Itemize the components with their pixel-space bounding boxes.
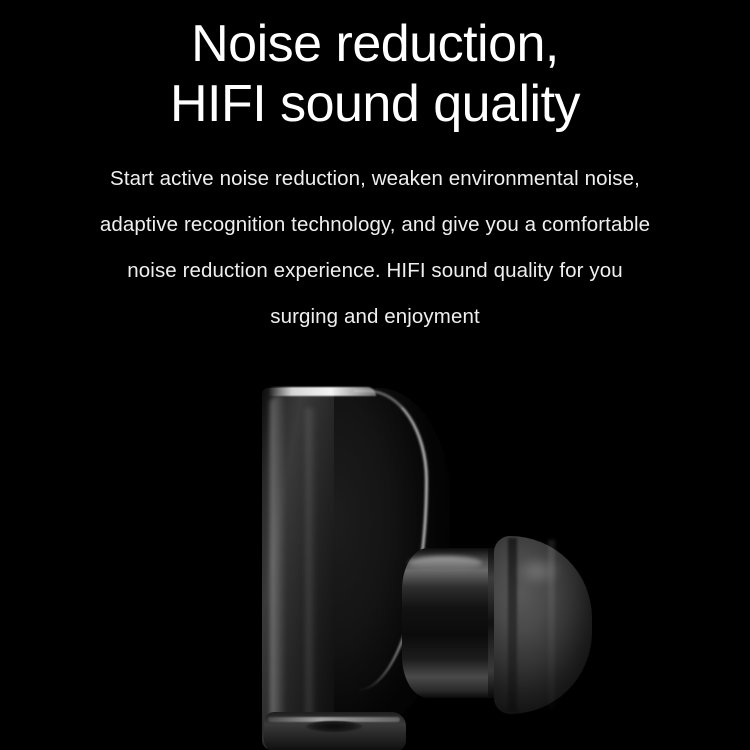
earbud-ear-tip-highlight [514, 556, 562, 586]
earbud-sheen-left [270, 396, 286, 738]
earbud-nozzle-gloss [408, 556, 482, 570]
earbud-nozzle [402, 548, 500, 698]
earbud-sheen-mid [306, 408, 316, 728]
promo-copy-block: Noise reduction, HIFI sound quality Star… [0, 0, 750, 340]
promo-description: Start active noise reduction, weaken env… [0, 156, 750, 340]
page-title: Noise reduction, HIFI sound quality [0, 14, 750, 134]
earbud-base-slot [306, 721, 362, 732]
earbud-product-image [262, 388, 592, 750]
earbud-rim-highlight-top [268, 387, 376, 396]
